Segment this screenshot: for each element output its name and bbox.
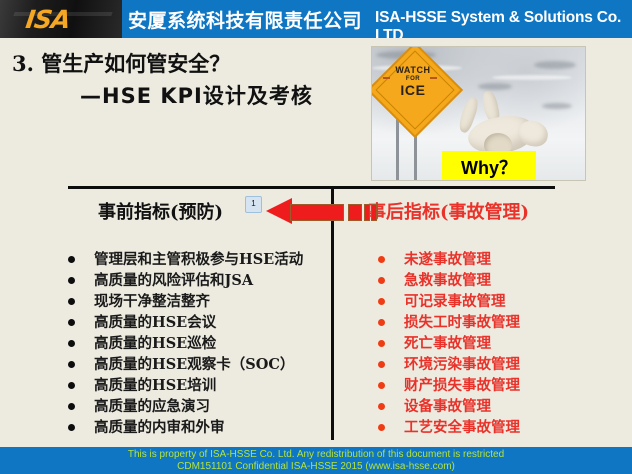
polar-bear-ice-photo: WATCH FOR ICE Why？ [371,46,586,181]
bullet-icon [378,256,385,263]
bullet-icon [68,382,75,389]
slide-header: ISA 安厦系统科技有限责任公司 ISA-HSSE System & Solut… [0,0,632,38]
snow-streak-2 [492,75,572,80]
arrow-tail-segment-1 [348,204,362,221]
bullet-icon [378,403,385,410]
arrow-head-icon [266,198,292,224]
list-item-label: 损失工时事故管理 [404,312,520,333]
vertical-divider [331,186,334,440]
sign-dash-right [430,77,437,79]
list-item-label: 现场干净整洁整齐 [94,291,210,312]
arrow-shaft [290,204,344,221]
bullet-icon [68,424,75,431]
bullet-icon [68,319,75,326]
bullet-icon [68,361,75,368]
list-item-label: 管理层和主管积极参与HSE活动 [94,249,303,270]
bullet-icon [378,382,385,389]
footnote-marker: 1 [245,196,262,213]
bullet-icon [68,340,75,347]
list-item-label: 高质量的HSE巡检 [94,333,216,354]
list-item-label: 未遂事故管理 [404,249,491,270]
leading-indicators-heading: 事前指标(预防) [98,198,223,224]
slide-canvas: ISA 安厦系统科技有限责任公司 ISA-HSSE System & Solut… [0,0,632,474]
bullet-icon [378,424,385,431]
snow-shadow-2 [534,61,576,69]
footer-copyright-line: This is property of ISA-HSSE Co. Ltd. An… [0,449,632,460]
list-item-label: 设备事故管理 [404,396,491,417]
horizontal-divider [68,186,555,189]
arrow-tail-segment-3 [371,204,377,221]
bullet-icon [68,256,75,263]
lagging-indicators-heading: 事后指标(事故管理) [368,198,529,224]
list-item-label: 可记录事故管理 [404,291,506,312]
bullet-icon [378,298,385,305]
sign-dash-left [383,77,390,79]
bullet-icon [68,277,75,284]
why-caption-text: Why？ [442,154,536,180]
bullet-icon [378,361,385,368]
isa-logo-text: ISA [24,5,72,34]
list-item-label: 高质量的应急演习 [94,396,210,417]
company-name-en: ISA-HSSE System & Solutions Co. LTD [375,9,632,38]
company-name-cn: 安厦系统科技有限责任公司 [128,6,362,33]
list-item-label: 财产损失事故管理 [404,375,520,396]
snow-shadow-1 [478,83,512,90]
bullet-icon [68,298,75,305]
footer-document-line: CDM151101 Confidential ISA-HSSE 2015 (ww… [0,461,632,472]
slide-title-line2: —HSE KPI设计及考核 [80,80,313,110]
bullet-icon [68,403,75,410]
list-item-label: 高质量的HSE观察卡（SOC） [94,354,294,375]
list-item-label: 高质量的HSE会议 [94,312,216,333]
arrow-tail-segment-2 [364,204,370,221]
bullet-icon [378,277,385,284]
slide-title-line1: 3. 管生产如何管安全？ [12,48,230,78]
list-item-label: 高质量的HSE培训 [94,375,216,396]
bullet-icon [378,340,385,347]
list-item-label: 死亡事故管理 [404,333,491,354]
list-item-label: 高质量的内审和外审 [94,417,225,438]
isa-logo: ISA [0,0,122,38]
slide-footer: This is property of ISA-HSSE Co. Ltd. An… [0,447,632,474]
list-item-label: 环境污染事故管理 [404,354,520,375]
list-item-label: 急救事故管理 [404,270,491,291]
snow-shadow-4 [542,103,572,109]
sign-post-left [396,115,399,181]
bullet-icon [378,319,385,326]
list-item-label: 工艺安全事故管理 [404,417,520,438]
list-item-label: 高质量的风险评估和JSA [94,270,253,291]
